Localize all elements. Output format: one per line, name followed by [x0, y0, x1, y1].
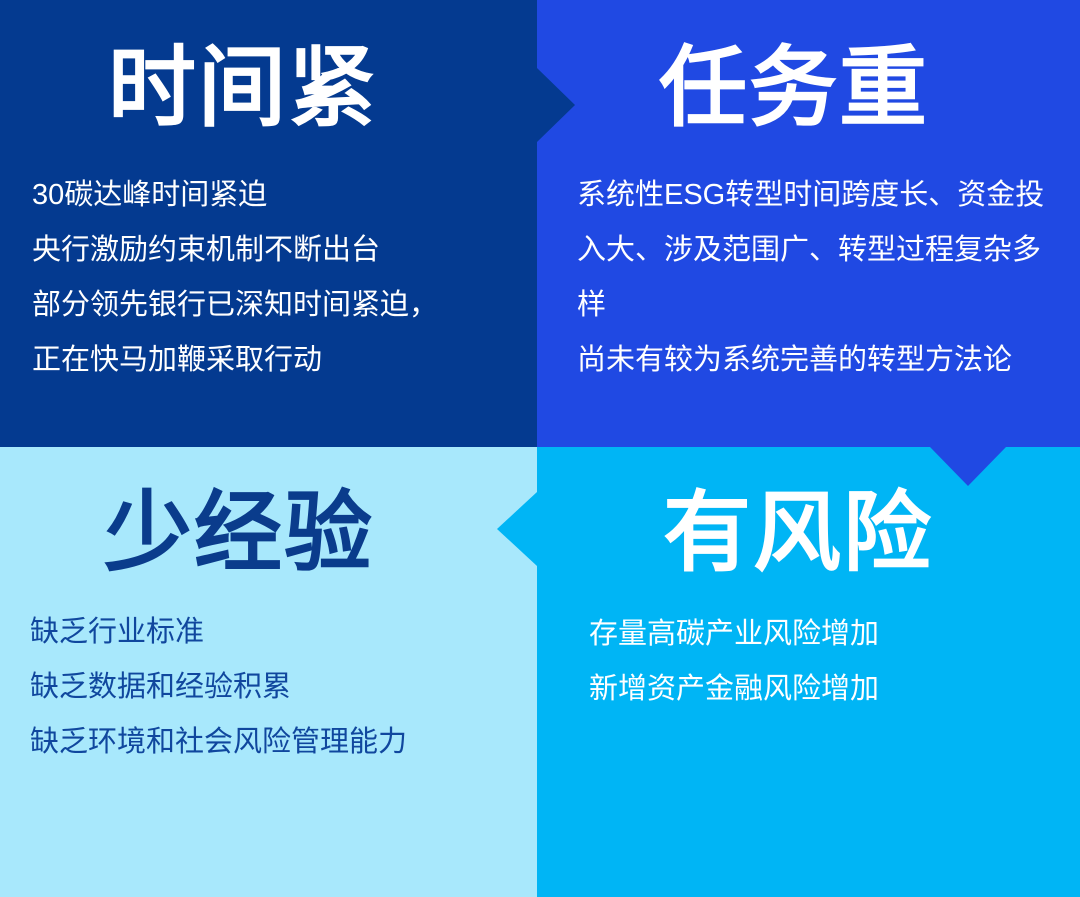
- esg-challenges-infographic: 时间紧 30碳达峰时间紧迫 央行激励约束机制不断出台 部分领先银行已深知时间紧迫…: [0, 0, 1080, 897]
- list-item: 缺乏数据和经验积累: [30, 660, 520, 715]
- quadrant-title-little-experience: 少经验: [104, 489, 374, 577]
- list-item: 缺乏行业标准: [30, 605, 520, 660]
- quadrant-heavy-task: 任务重 系统性ESG转型时间跨度长、资金投入大、涉及范围广、转型过程复杂多样 尚…: [537, 0, 1080, 447]
- quadrant-body-heavy-task: 系统性ESG转型时间跨度长、资金投入大、涉及范围广、转型过程复杂多样 尚未有较为…: [577, 168, 1062, 388]
- list-item: 缺乏环境和社会风险管理能力: [30, 715, 520, 770]
- list-item: 部分领先银行已深知时间紧迫，: [32, 278, 512, 333]
- list-item: 30碳达峰时间紧迫: [32, 168, 512, 223]
- quadrant-body-has-risk: 存量高碳产业风险增加 新增资产金融风险增加: [589, 607, 1059, 717]
- list-item: 系统性ESG转型时间跨度长、资金投入大、涉及范围广、转型过程复杂多样: [577, 168, 1062, 333]
- list-item: 存量高碳产业风险增加: [589, 607, 1059, 662]
- quadrant-time-pressure: 时间紧 30碳达峰时间紧迫 央行激励约束机制不断出台 部分领先银行已深知时间紧迫…: [0, 0, 537, 447]
- list-item: 央行激励约束机制不断出台: [32, 223, 512, 278]
- quadrant-has-risk: 有风险 存量高碳产业风险增加 新增资产金融风险增加: [537, 447, 1080, 897]
- quadrant-title-heavy-task: 任务重: [659, 44, 929, 132]
- list-item: 尚未有较为系统完善的转型方法论: [577, 333, 1062, 388]
- quadrant-little-experience: 少经验 缺乏行业标准 缺乏数据和经验积累 缺乏环境和社会风险管理能力: [0, 447, 537, 897]
- list-item: 新增资产金融风险增加: [589, 662, 1059, 717]
- quadrant-body-time-pressure: 30碳达峰时间紧迫 央行激励约束机制不断出台 部分领先银行已深知时间紧迫， 正在…: [32, 168, 512, 388]
- quadrant-title-time-pressure: 时间紧: [108, 44, 378, 132]
- quadrant-body-little-experience: 缺乏行业标准 缺乏数据和经验积累 缺乏环境和社会风险管理能力: [30, 605, 520, 770]
- quadrant-title-has-risk: 有风险: [663, 489, 933, 577]
- list-item: 正在快马加鞭采取行动: [32, 333, 512, 388]
